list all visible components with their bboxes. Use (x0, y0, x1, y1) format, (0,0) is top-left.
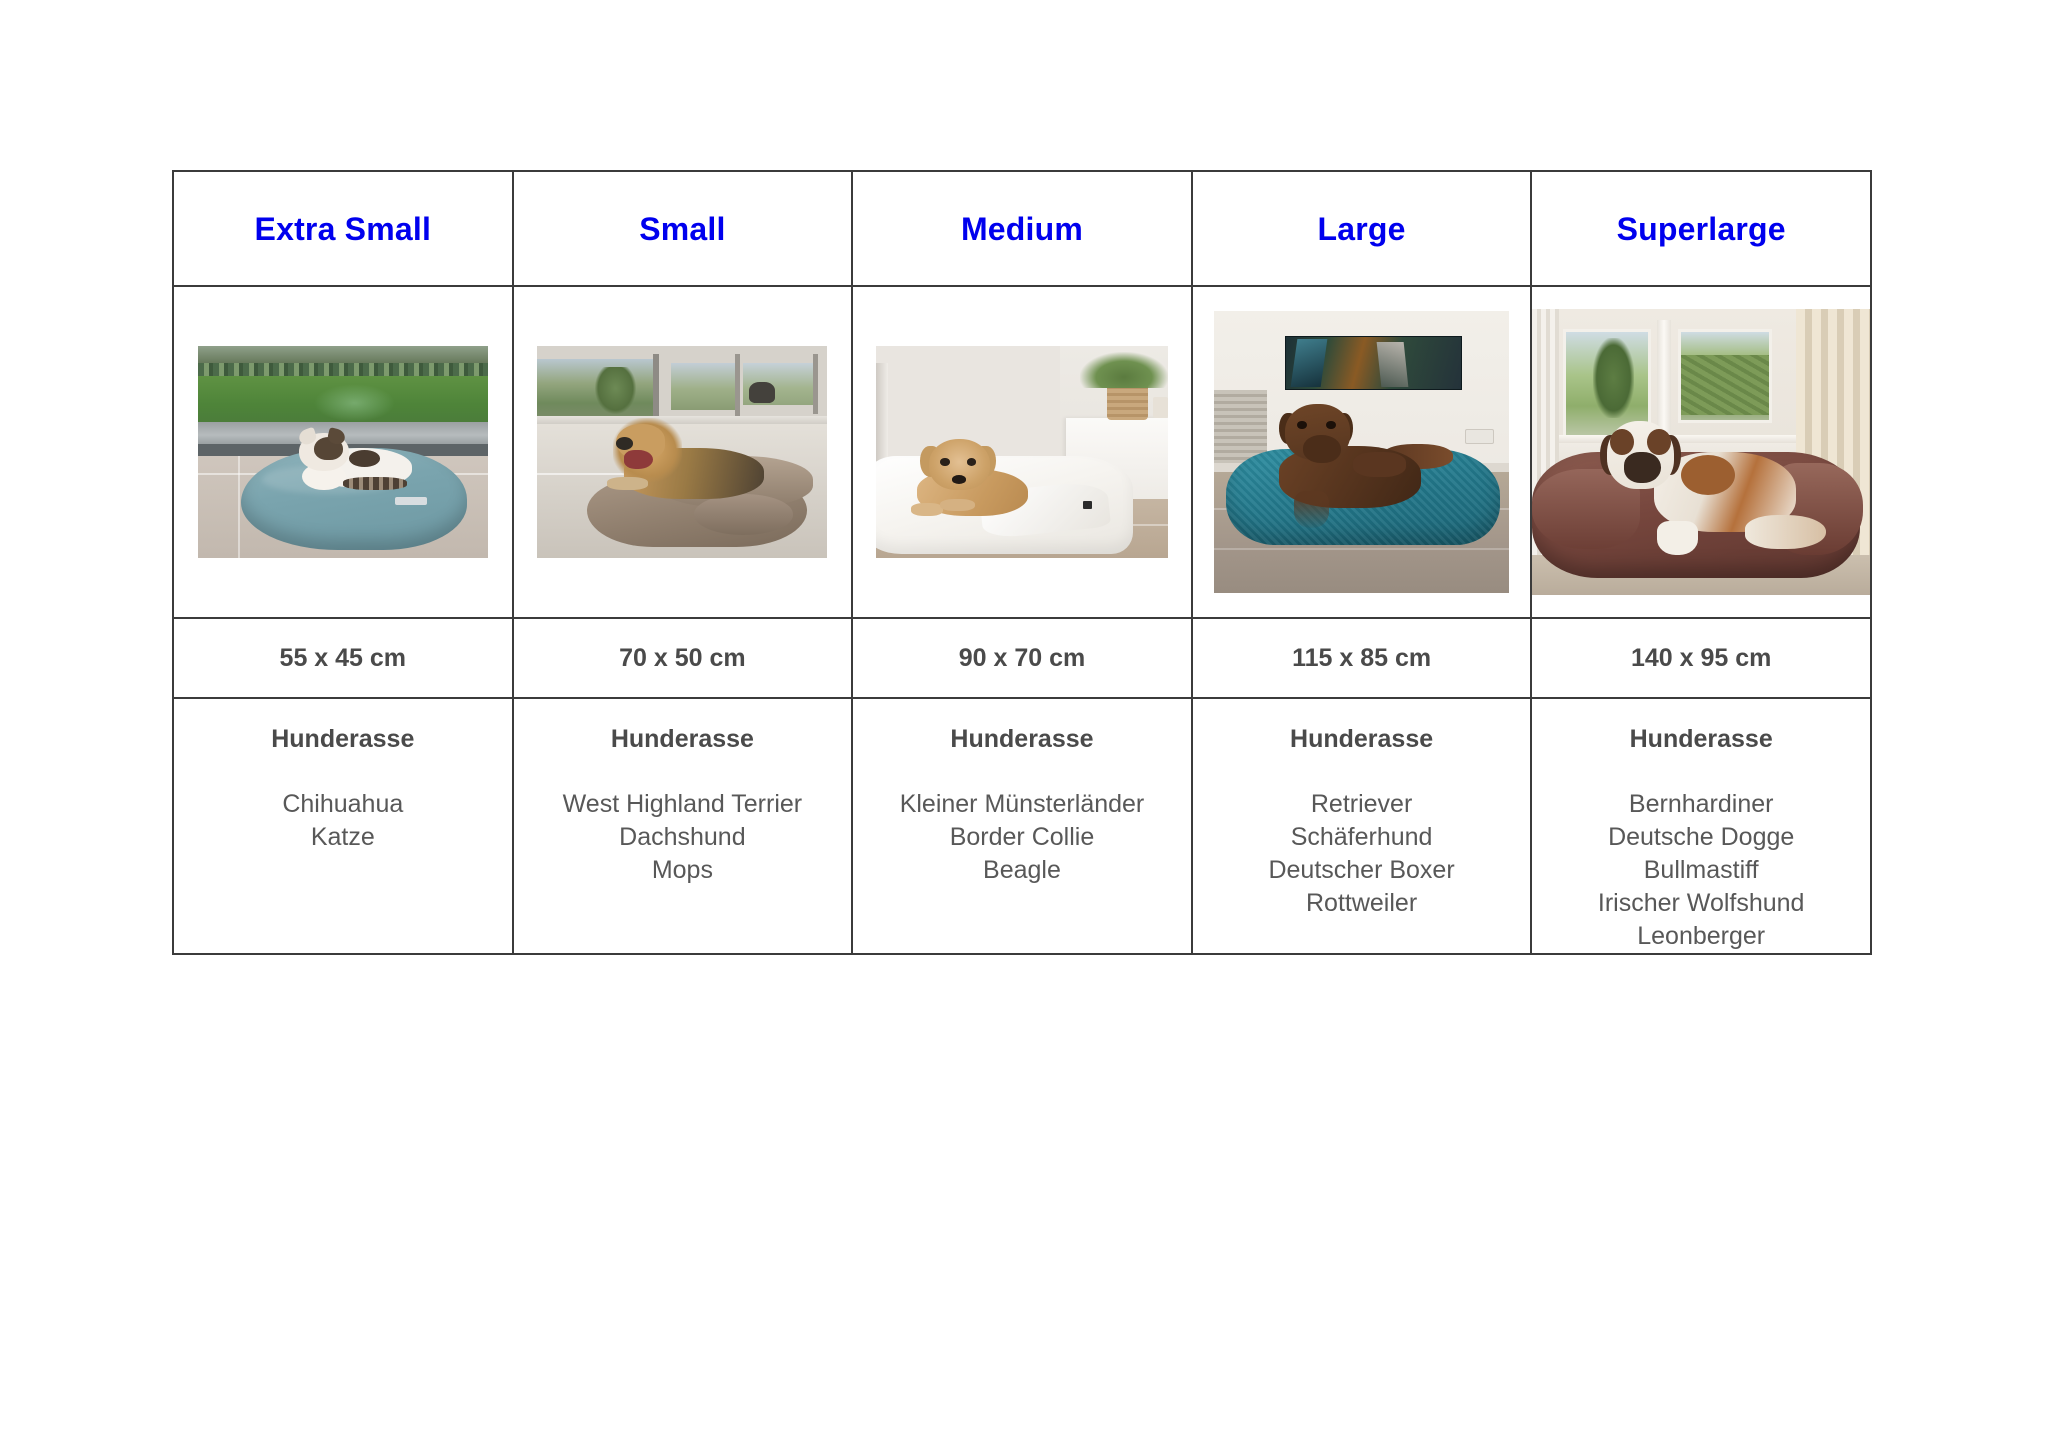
tile-seam (238, 456, 240, 558)
wall-socket (1465, 429, 1495, 443)
dog-paw (1294, 491, 1329, 528)
image-cell-small (513, 286, 853, 618)
breed-list-item: West Highland Terrier (514, 788, 852, 821)
dog-paw (1657, 521, 1698, 555)
breed-list-item: Irischer Wolfshund (1532, 887, 1870, 920)
brand-label-tag (395, 497, 427, 505)
dog-eye-right (967, 458, 976, 466)
dog-bed-size-table: Extra Small Small Medium Large Superlarg… (172, 170, 1872, 955)
size-header-label: Medium (853, 213, 1191, 245)
dog-eye-patch-left (1610, 429, 1634, 455)
breed-list-item: Kleiner Münsterländer (853, 788, 1191, 821)
dimensions-text: 70 x 50 cm (514, 646, 852, 671)
breeds-cell-superlarge: Hunderasse Bernhardiner Deutsche Dogge B… (1531, 698, 1871, 954)
dog-paw (940, 499, 975, 512)
photo-wrapper (853, 287, 1191, 617)
photo-chocolate-labrador-on-teal-dog-bed (1214, 311, 1509, 593)
breeds-cell-medium: Hunderasse Kleiner Münsterländer Border … (852, 698, 1192, 954)
window-reflection (314, 384, 395, 422)
dimensions-text: 115 x 85 cm (1193, 646, 1531, 671)
breed-list-item: Katze (174, 821, 512, 854)
image-cell-extra-small (173, 286, 513, 618)
table-header-row: Extra Small Small Medium Large Superlarg… (173, 171, 1871, 286)
dog-eye-left (940, 458, 949, 466)
dog-paw (607, 477, 648, 490)
table-breeds-row: Hunderasse Chihuahua Katze Hunderasse We… (173, 698, 1871, 954)
dog-tail (1745, 515, 1826, 549)
breeds-cell-small: Hunderasse West Highland Terrier Dachshu… (513, 698, 853, 954)
image-cell-large (1192, 286, 1532, 618)
dog-paw (911, 503, 943, 516)
dimensions-text: 90 x 70 cm (853, 646, 1191, 671)
breed-list: Chihuahua Katze (174, 788, 512, 854)
header-cell-large: Large (1192, 171, 1532, 286)
size-header-label: Superlarge (1532, 213, 1870, 245)
breed-section-title: Hunderasse (853, 727, 1191, 752)
dog-paw (1353, 452, 1406, 477)
dimensions-cell-extra-small: 55 x 45 cm (173, 618, 513, 698)
header-cell-small: Small (513, 171, 853, 286)
houseplant-foliage (1080, 352, 1168, 388)
floorboard-seam (1214, 548, 1509, 550)
photo-cockapoo-on-white-dog-bed (876, 346, 1168, 558)
breed-list: Retriever Schäferhund Deutscher Boxer Ro… (1193, 788, 1531, 920)
dimensions-cell-small: 70 x 50 cm (513, 618, 853, 698)
photo-wrapper (514, 287, 852, 617)
photo-saint-bernard-on-brown-dog-bed (1532, 309, 1870, 595)
breed-section-title: Hunderasse (1532, 727, 1870, 752)
breed-list: Kleiner Münsterländer Border Collie Beag… (853, 788, 1191, 887)
breed-list-item: Schäferhund (1193, 821, 1531, 854)
breed-list-item: Mops (514, 854, 852, 887)
dog-fur-patch (1681, 455, 1735, 495)
candle-decor (1153, 397, 1168, 418)
size-header-label: Extra Small (174, 213, 512, 245)
breeds-cell-large: Hunderasse Retriever Schäferhund Deutsch… (1192, 698, 1532, 954)
breed-list: West Highland Terrier Dachshund Mops (514, 788, 852, 887)
breed-list-item: Rottweiler (1193, 887, 1531, 920)
window-mullion (735, 354, 740, 418)
breed-list-item: Chihuahua (174, 788, 512, 821)
breed-list: Bernhardiner Deutsche Dogge Bullmastiff … (1532, 788, 1870, 953)
dimensions-cell-medium: 90 x 70 cm (852, 618, 1192, 698)
photo-wrapper (1193, 287, 1531, 617)
dog-eye-patch-right (1647, 429, 1671, 455)
dimensions-text: 140 x 95 cm (1532, 646, 1870, 671)
breed-list-item: Deutsche Dogge (1532, 821, 1870, 854)
tree-foliage (1593, 338, 1634, 418)
size-header-label: Small (514, 213, 852, 245)
dog-nose (952, 475, 967, 483)
header-cell-medium: Medium (852, 171, 1192, 286)
dog-eye-left (1297, 421, 1307, 429)
window-mullion (813, 354, 818, 413)
document-page: Extra Small Small Medium Large Superlarg… (0, 0, 2048, 1448)
dog-bed-bolster (694, 494, 793, 534)
dog-snout (1303, 435, 1341, 463)
photo-wrapper (174, 287, 512, 617)
table-dimensions-row: 55 x 45 cm 70 x 50 cm 90 x 70 cm 115 x 8… (173, 618, 1871, 698)
breed-list-item: Beagle (853, 854, 1191, 887)
photo-cat-on-light-blue-dog-bed (198, 346, 488, 558)
breed-list-item: Deutscher Boxer (1193, 854, 1531, 887)
breed-list-item: Bullmastiff (1532, 854, 1870, 887)
photo-terrier-on-brown-bolster-bed (537, 346, 827, 558)
size-header-label: Large (1193, 213, 1531, 245)
cat-fur-patch (349, 450, 381, 467)
dimensions-cell-large: 115 x 85 cm (1192, 618, 1532, 698)
breed-list-item: Leonberger (1532, 920, 1870, 953)
breed-section-title: Hunderasse (514, 727, 852, 752)
breed-list-item: Border Collie (853, 821, 1191, 854)
window-view-middle (671, 363, 735, 410)
breeds-cell-extra-small: Hunderasse Chihuahua Katze (173, 698, 513, 954)
image-cell-superlarge (1531, 286, 1871, 618)
brand-label-tag (1083, 501, 1092, 509)
dimensions-cell-superlarge: 140 x 95 cm (1531, 618, 1871, 698)
breed-list-item: Dachshund (514, 821, 852, 854)
photo-wrapper (1532, 287, 1870, 617)
header-cell-extra-small: Extra Small (173, 171, 513, 286)
image-cell-medium (852, 286, 1192, 618)
breed-section-title: Hunderasse (1193, 727, 1531, 752)
dimensions-text: 55 x 45 cm (174, 646, 512, 671)
garden-hedge (1681, 355, 1769, 415)
dog-nose (616, 437, 633, 450)
person-outside (749, 382, 775, 403)
breed-list-item: Retriever (1193, 788, 1531, 821)
breed-section-title: Hunderasse (174, 727, 512, 752)
tree-foliage (595, 367, 636, 414)
breed-list-item: Bernhardiner (1532, 788, 1870, 821)
cat-tail (343, 477, 407, 490)
dog-snout (1624, 452, 1661, 483)
artwork-detail (1377, 342, 1408, 387)
header-cell-superlarge: Superlarge (1531, 171, 1871, 286)
table-image-row (173, 286, 1871, 618)
